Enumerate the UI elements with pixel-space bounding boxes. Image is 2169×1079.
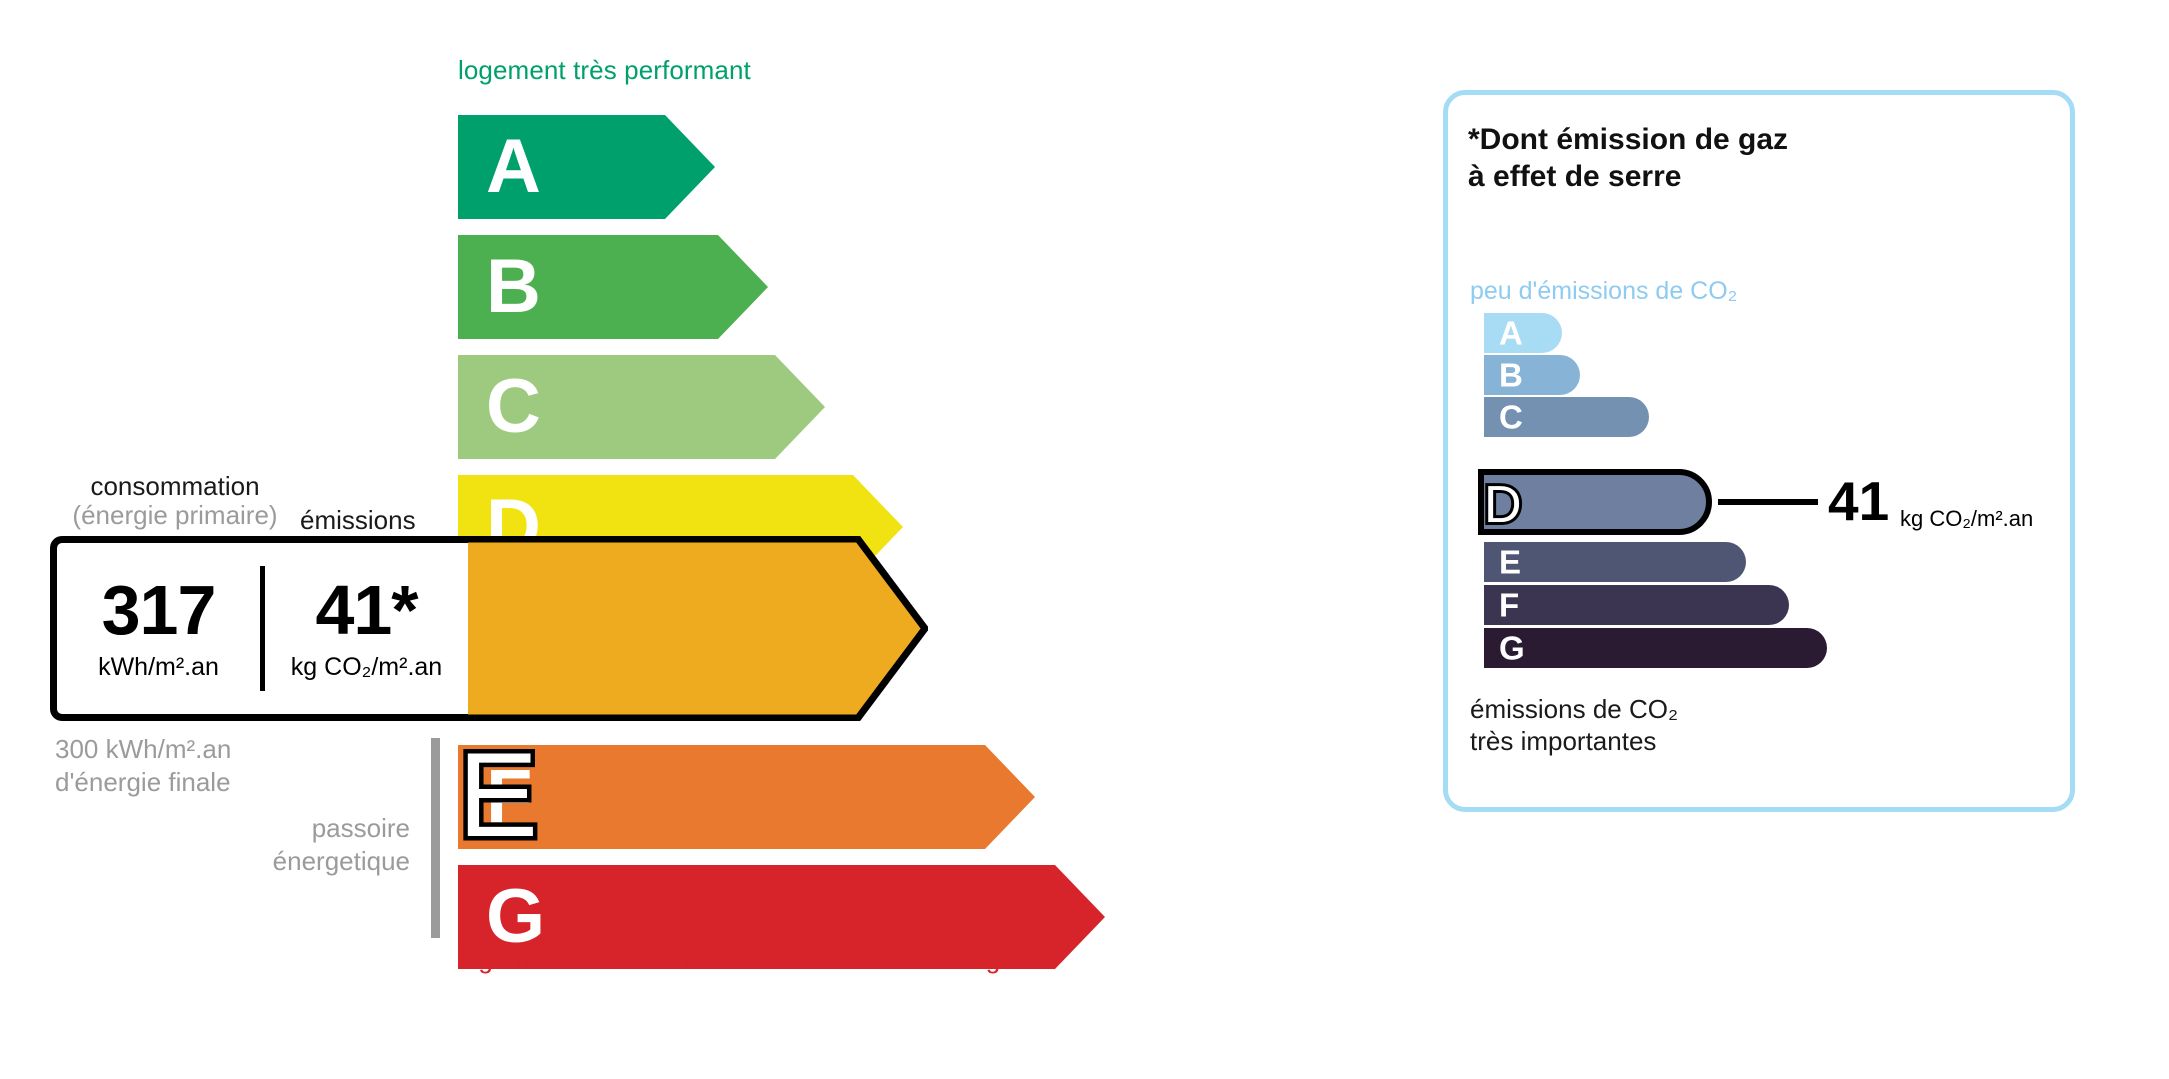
co2-bar-e: E [1484, 542, 1746, 582]
energy-performance-chart: logement très performant ABCDFG E 317 kW… [0, 0, 1400, 1079]
co2-bar-letter: A [1499, 317, 1523, 350]
co2-bar-letter: F [1499, 589, 1519, 622]
passoire-label: passoire énergetique [180, 812, 410, 877]
final-energy-note: 300 kWh/m².an d'énergie finale [55, 733, 231, 798]
co2-bar-letter: G [1499, 632, 1525, 665]
co2-bottom-line1: émissions de CO₂ [1470, 694, 1678, 726]
passoire-line1: passoire [180, 812, 410, 845]
energy-band-c: C [458, 355, 825, 459]
co2-bar-current-letter: D [1484, 475, 1706, 535]
energy-band-current-letter: E [458, 726, 928, 864]
co2-title-line1: *Dont émission de gaz [1468, 122, 1788, 159]
dpe-diagram: logement très performant ABCDFG E 317 kW… [0, 0, 2169, 1079]
co2-bar-b: B [1484, 355, 1580, 395]
co2-bottom-line2: très importantes [1470, 726, 1678, 758]
energy-band-letter: C [486, 369, 541, 445]
co2-value-unit: kg CO₂/m².an [291, 653, 442, 682]
energy-value: 317 [102, 575, 216, 645]
final-energy-line1: 300 kWh/m².an [55, 733, 231, 766]
emissions-label: émissions [300, 505, 416, 536]
co2-bar-g: G [1484, 628, 1827, 668]
final-energy-line2: d'énergie finale [55, 766, 231, 799]
energy-bottom-caption: logement extrêmement consommateur d'éner… [458, 944, 1021, 975]
co2-callout-value: 41 [1828, 474, 1889, 529]
energy-top-caption: logement très performant [458, 55, 751, 86]
co2-top-caption: peu d'émissions de CO₂ [1470, 277, 1737, 306]
co2-bar-letter: E [1499, 546, 1521, 579]
energy-value-box: 317 kWh/m².an 41* kg CO₂/m².an [50, 536, 468, 721]
co2-bar-current: D [1478, 469, 1712, 535]
energy-value-cell: 317 kWh/m².an [57, 575, 260, 682]
co2-title-line2: à effet de serre [1468, 159, 1788, 196]
consumption-label: consommation (énergie primaire) [60, 472, 290, 530]
energy-band-a: A [458, 115, 715, 219]
consumption-label-main: consommation [90, 471, 259, 501]
co2-callout-line [1718, 499, 1818, 505]
passoire-line2: énergetique [180, 845, 410, 878]
co2-value-cell: 41* kg CO₂/m².an [265, 575, 468, 682]
co2-panel-title: *Dont émission de gaz à effet de serre [1468, 122, 1788, 195]
energy-band-letter: A [486, 129, 541, 205]
co2-bar-f: F [1484, 585, 1789, 625]
co2-bar-c: C [1484, 397, 1649, 437]
co2-bar-letter: B [1499, 359, 1523, 392]
consumption-label-sub: (énergie primaire) [60, 501, 290, 530]
passoire-divider-line [431, 738, 440, 938]
energy-band-letter: B [486, 249, 541, 325]
energy-band-b: B [458, 235, 768, 339]
co2-bottom-caption: émissions de CO₂ très importantes [1470, 694, 1678, 757]
co2-callout-unit: kg CO₂/m².an [1900, 508, 2033, 530]
co2-bar-a: A [1484, 313, 1562, 353]
energy-band-current-arrow [458, 536, 928, 721]
co2-bar-letter: C [1499, 401, 1523, 434]
co2-value: 41* [315, 575, 417, 645]
energy-value-unit: kWh/m².an [98, 653, 219, 682]
energy-band-current: E [458, 536, 928, 721]
